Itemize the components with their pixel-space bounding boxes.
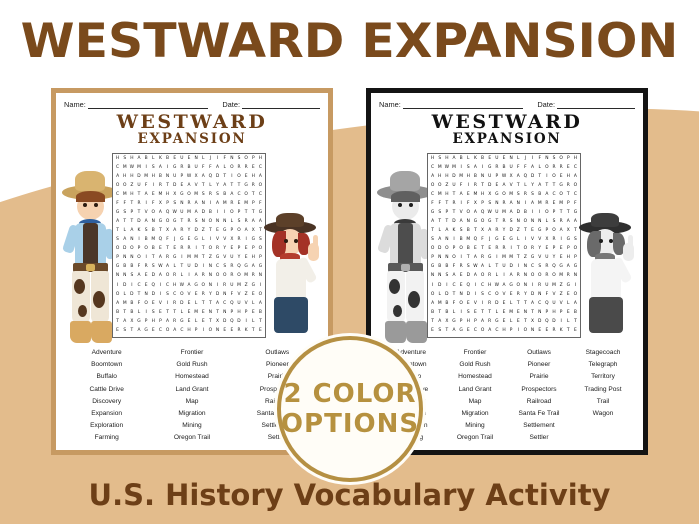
grid-cell[interactable]: F	[543, 290, 550, 299]
grid-cell[interactable]: C	[493, 326, 500, 335]
grid-cell[interactable]: A	[200, 173, 207, 182]
grid-cell[interactable]: B	[150, 227, 157, 236]
grid-cell[interactable]: A	[472, 272, 479, 281]
grid-cell[interactable]: E	[235, 200, 242, 209]
grid-cell[interactable]: W	[472, 263, 479, 272]
grid-cell[interactable]: N	[508, 155, 515, 164]
grid-cell[interactable]: N	[479, 173, 486, 182]
grid-cell[interactable]: C	[235, 191, 242, 200]
grid-cell[interactable]: T	[522, 299, 529, 308]
grid-cell[interactable]: L	[178, 308, 185, 317]
grid-cell[interactable]: O	[550, 272, 557, 281]
grid-cell[interactable]: A	[436, 317, 443, 326]
grid-cell[interactable]: N	[207, 272, 214, 281]
grid-cell[interactable]: D	[214, 173, 221, 182]
grid-cell[interactable]: T	[150, 254, 157, 263]
grid-cell[interactable]: L	[436, 290, 443, 299]
grid-cell[interactable]: N	[543, 155, 550, 164]
grid-cell[interactable]: G	[143, 326, 150, 335]
grid-cell[interactable]: N	[429, 272, 436, 281]
grid-cell[interactable]: S	[550, 155, 557, 164]
grid-cell[interactable]: S	[429, 236, 436, 245]
grid-cell[interactable]: O	[429, 245, 436, 254]
grid-cell[interactable]: C	[257, 191, 264, 200]
grid-cell[interactable]: R	[558, 218, 565, 227]
grid-cell[interactable]: I	[458, 254, 465, 263]
grid-cell[interactable]: I	[193, 245, 200, 254]
grid-cell[interactable]: A	[472, 164, 479, 173]
grid-cell[interactable]: N	[143, 290, 150, 299]
grid-cell[interactable]: S	[443, 272, 450, 281]
grid-cell[interactable]: H	[465, 173, 472, 182]
grid-cell[interactable]: T	[128, 326, 135, 335]
grid-cell[interactable]: E	[458, 281, 465, 290]
grid-cell[interactable]: M	[536, 200, 543, 209]
grid-cell[interactable]: B	[472, 173, 479, 182]
grid-cell[interactable]: O	[558, 191, 565, 200]
grid-cell[interactable]: P	[243, 308, 250, 317]
grid-cell[interactable]: G	[178, 236, 185, 245]
grid-cell[interactable]: A	[565, 218, 572, 227]
grid-cell[interactable]: W	[128, 164, 135, 173]
grid-cell[interactable]: R	[543, 200, 550, 209]
grid-cell[interactable]: L	[150, 155, 157, 164]
grid-cell[interactable]: E	[143, 281, 150, 290]
grid-cell[interactable]: C	[157, 326, 164, 335]
grid-cell[interactable]: P	[228, 308, 235, 317]
grid-cell[interactable]: A	[171, 326, 178, 335]
grid-cell[interactable]: N	[458, 290, 465, 299]
grid-cell[interactable]: T	[135, 209, 142, 218]
grid-cell[interactable]: R	[565, 272, 572, 281]
grid-cell[interactable]: E	[157, 245, 164, 254]
grid-cell[interactable]: E	[543, 245, 550, 254]
grid-cell[interactable]: I	[214, 155, 221, 164]
grid-cell[interactable]: I	[164, 299, 171, 308]
grid-cell[interactable]: M	[157, 191, 164, 200]
grid-cell[interactable]: P	[193, 326, 200, 335]
grid-cell[interactable]: G	[193, 236, 200, 245]
grid-cell[interactable]: O	[207, 245, 214, 254]
grid-cell[interactable]: S	[436, 326, 443, 335]
grid-cell[interactable]: O	[207, 326, 214, 335]
grid-cell[interactable]: H	[128, 155, 135, 164]
grid-cell[interactable]: O	[436, 182, 443, 191]
grid-cell[interactable]: N	[515, 218, 522, 227]
grid-cell[interactable]: I	[529, 155, 536, 164]
grid-cell[interactable]: F	[465, 200, 472, 209]
grid-cell[interactable]: O	[164, 326, 171, 335]
grid-cell[interactable]: F	[135, 299, 142, 308]
grid-cell[interactable]: W	[178, 281, 185, 290]
grid-cell[interactable]: E	[543, 326, 550, 335]
grid-cell[interactable]: M	[508, 254, 515, 263]
grid-cell[interactable]: D	[529, 173, 536, 182]
grid-cell[interactable]: C	[171, 290, 178, 299]
grid-cell[interactable]: M	[458, 173, 465, 182]
grid-cell[interactable]: E	[558, 254, 565, 263]
grid-cell[interactable]: F	[150, 200, 157, 209]
grid-cell[interactable]: I	[443, 281, 450, 290]
grid-cell[interactable]: B	[429, 308, 436, 317]
grid-cell[interactable]: R	[543, 272, 550, 281]
grid-cell[interactable]: S	[515, 191, 522, 200]
grid-cell[interactable]: F	[515, 164, 522, 173]
grid-cell[interactable]: T	[164, 182, 171, 191]
grid-cell[interactable]: O	[536, 272, 543, 281]
grid-cell[interactable]: H	[550, 308, 557, 317]
grid-cell[interactable]: R	[164, 254, 171, 263]
grid-cell[interactable]: L	[486, 263, 493, 272]
grid-cell[interactable]: C	[164, 281, 171, 290]
grid-cell[interactable]: T	[479, 308, 486, 317]
grid-cell[interactable]: L	[200, 236, 207, 245]
grid-cell[interactable]: B	[465, 245, 472, 254]
grid-cell[interactable]: A	[458, 218, 465, 227]
grid-cell[interactable]: A	[114, 173, 121, 182]
grid-cell[interactable]: O	[143, 299, 150, 308]
grid-cell[interactable]: R	[143, 263, 150, 272]
grid-cell[interactable]: T	[228, 182, 235, 191]
grid-cell[interactable]: L	[121, 290, 128, 299]
grid-cell[interactable]: G	[558, 182, 565, 191]
grid-cell[interactable]: R	[135, 200, 142, 209]
grid-cell[interactable]: N	[150, 218, 157, 227]
grid-cell[interactable]: A	[114, 218, 121, 227]
grid-cell[interactable]: M	[235, 281, 242, 290]
grid-cell[interactable]: R	[515, 290, 522, 299]
grid-cell[interactable]: H	[171, 281, 178, 290]
grid-cell[interactable]: N	[522, 272, 529, 281]
grid-cell[interactable]: V	[550, 290, 557, 299]
grid-cell[interactable]: R	[171, 299, 178, 308]
grid-cell[interactable]: O	[572, 245, 579, 254]
grid-cell[interactable]: U	[185, 263, 192, 272]
grid-cell[interactable]: U	[550, 299, 557, 308]
grid-cell[interactable]: O	[143, 245, 150, 254]
grid-cell[interactable]: T	[250, 326, 257, 335]
grid-cell[interactable]: O	[121, 182, 128, 191]
grid-cell[interactable]: T	[135, 191, 142, 200]
grid-cell[interactable]: T	[479, 245, 486, 254]
grid-cell[interactable]: X	[164, 227, 171, 236]
grid-cell[interactable]: O	[164, 218, 171, 227]
grid-cell[interactable]: N	[436, 254, 443, 263]
grid-cell[interactable]: C	[479, 281, 486, 290]
grid-cell[interactable]: D	[178, 299, 185, 308]
grid-cell[interactable]: R	[178, 245, 185, 254]
grid-cell[interactable]: G	[572, 209, 579, 218]
grid-cell[interactable]: N	[443, 254, 450, 263]
grid-cell[interactable]: O	[128, 245, 135, 254]
grid-cell[interactable]: I	[178, 254, 185, 263]
grid-cell[interactable]: R	[228, 200, 235, 209]
grid-cell[interactable]: P	[135, 245, 142, 254]
grid-cell[interactable]: S	[458, 227, 465, 236]
grid-cell[interactable]: T	[429, 227, 436, 236]
grid-cell[interactable]: F	[522, 164, 529, 173]
grid-cell[interactable]: I	[185, 272, 192, 281]
grid-cell[interactable]: E	[185, 299, 192, 308]
grid-cell[interactable]: I	[472, 281, 479, 290]
grid-cell[interactable]: S	[436, 209, 443, 218]
grid-cell[interactable]: E	[458, 272, 465, 281]
grid-cell[interactable]: F	[257, 200, 264, 209]
grid-cell[interactable]: A	[543, 191, 550, 200]
grid-cell[interactable]: X	[479, 227, 486, 236]
grid-cell[interactable]: R	[450, 200, 457, 209]
grid-cell[interactable]: Q	[157, 236, 164, 245]
grid-cell[interactable]: G	[250, 281, 257, 290]
grid-cell[interactable]: L	[493, 272, 500, 281]
grid-cell[interactable]: T	[515, 299, 522, 308]
grid-cell[interactable]: G	[529, 254, 536, 263]
grid-cell[interactable]: S	[164, 290, 171, 299]
grid-cell[interactable]: A	[472, 254, 479, 263]
grid-cell[interactable]: V	[157, 299, 164, 308]
grid-cell[interactable]: A	[193, 200, 200, 209]
grid-cell[interactable]: T	[157, 227, 164, 236]
grid-cell[interactable]: T	[529, 308, 536, 317]
grid-cell[interactable]: I	[257, 281, 264, 290]
grid-cell[interactable]: T	[443, 218, 450, 227]
grid-cell[interactable]: Q	[235, 263, 242, 272]
grid-cell[interactable]: Q	[522, 173, 529, 182]
grid-cell[interactable]: M	[465, 236, 472, 245]
grid-cell[interactable]: H	[429, 155, 436, 164]
grid-cell[interactable]: E	[472, 308, 479, 317]
grid-cell[interactable]: C	[529, 263, 536, 272]
grid-cell[interactable]: C	[536, 299, 543, 308]
grid-cell[interactable]: G	[429, 263, 436, 272]
grid-cell[interactable]: V	[221, 236, 228, 245]
grid-cell[interactable]: A	[458, 191, 465, 200]
grid-cell[interactable]: B	[185, 164, 192, 173]
grid-cell[interactable]: A	[257, 173, 264, 182]
grid-cell[interactable]: C	[114, 191, 121, 200]
grid-cell[interactable]: U	[543, 281, 550, 290]
grid-cell[interactable]: I	[472, 290, 479, 299]
grid-cell[interactable]: Y	[500, 227, 507, 236]
grid-cell[interactable]: E	[193, 290, 200, 299]
grid-cell[interactable]: H	[500, 326, 507, 335]
grid-cell[interactable]: A	[228, 191, 235, 200]
grid-cell[interactable]: F	[436, 200, 443, 209]
grid-cell[interactable]: U	[486, 173, 493, 182]
grid-cell[interactable]: M	[436, 191, 443, 200]
grid-cell[interactable]: R	[486, 299, 493, 308]
grid-cell[interactable]: C	[214, 263, 221, 272]
grid-cell[interactable]: Q	[543, 317, 550, 326]
grid-cell[interactable]: I	[558, 236, 565, 245]
grid-cell[interactable]: A	[450, 326, 457, 335]
grid-cell[interactable]: A	[450, 155, 457, 164]
grid-cell[interactable]: H	[121, 173, 128, 182]
grid-cell[interactable]: S	[150, 164, 157, 173]
grid-cell[interactable]: P	[128, 209, 135, 218]
grid-cell[interactable]: X	[529, 317, 536, 326]
grid-cell[interactable]: R	[185, 200, 192, 209]
grid-cell[interactable]: M	[185, 209, 192, 218]
grid-cell[interactable]: E	[243, 173, 250, 182]
grid-cell[interactable]: O	[243, 155, 250, 164]
grid-cell[interactable]: P	[493, 173, 500, 182]
grid-cell[interactable]: S	[550, 218, 557, 227]
grid-cell[interactable]: T	[493, 263, 500, 272]
grid-cell[interactable]: C	[178, 326, 185, 335]
grid-cell[interactable]: O	[200, 281, 207, 290]
grid-cell[interactable]: O	[257, 182, 264, 191]
grid-cell[interactable]: X	[171, 191, 178, 200]
grid-cell[interactable]: T	[565, 191, 572, 200]
grid-cell[interactable]: O	[228, 164, 235, 173]
grid-cell[interactable]: N	[529, 326, 536, 335]
grid-cell[interactable]: K	[558, 326, 565, 335]
grid-cell[interactable]: E	[200, 308, 207, 317]
grid-cell[interactable]: G	[508, 236, 515, 245]
grid-cell[interactable]: F	[429, 200, 436, 209]
grid-cell[interactable]: K	[157, 155, 164, 164]
grid-cell[interactable]: I	[243, 236, 250, 245]
grid-cell[interactable]: A	[429, 218, 436, 227]
grid-cell[interactable]: I	[221, 209, 228, 218]
grid-cell[interactable]: P	[250, 155, 257, 164]
grid-cell[interactable]: U	[508, 164, 515, 173]
grid-cell[interactable]: G	[508, 281, 515, 290]
grid-cell[interactable]: T	[250, 209, 257, 218]
grid-cell[interactable]: Y	[235, 254, 242, 263]
grid-cell[interactable]: I	[143, 164, 150, 173]
grid-cell[interactable]: S	[200, 191, 207, 200]
grid-cell[interactable]: N	[214, 218, 221, 227]
grid-cell[interactable]: C	[450, 281, 457, 290]
grid-cell[interactable]: P	[472, 317, 479, 326]
grid-cell[interactable]: Q	[550, 263, 557, 272]
grid-cell[interactable]: I	[143, 254, 150, 263]
grid-cell[interactable]: Y	[522, 290, 529, 299]
grid-cell[interactable]: M	[185, 254, 192, 263]
grid-cell[interactable]: G	[572, 263, 579, 272]
grid-cell[interactable]: A	[135, 155, 142, 164]
grid-cell[interactable]: I	[207, 200, 214, 209]
grid-cell[interactable]: G	[135, 317, 142, 326]
grid-cell[interactable]: X	[157, 200, 164, 209]
grid-cell[interactable]: O	[558, 155, 565, 164]
grid-cell[interactable]: X	[214, 317, 221, 326]
grid-cell[interactable]: H	[250, 173, 257, 182]
grid-cell[interactable]: E	[250, 308, 257, 317]
grid-cell[interactable]: H	[479, 191, 486, 200]
grid-cell[interactable]: G	[486, 254, 493, 263]
grid-cell[interactable]: U	[235, 299, 242, 308]
grid-cell[interactable]: P	[458, 317, 465, 326]
grid-cell[interactable]: G	[114, 209, 121, 218]
grid-cell[interactable]: D	[128, 290, 135, 299]
grid-cell[interactable]: H	[235, 308, 242, 317]
grid-cell[interactable]: A	[257, 218, 264, 227]
grid-cell[interactable]: G	[486, 218, 493, 227]
grid-cell[interactable]: V	[529, 236, 536, 245]
grid-cell[interactable]: I	[543, 173, 550, 182]
grid-cell[interactable]: D	[443, 290, 450, 299]
grid-cell[interactable]: T	[550, 182, 557, 191]
grid-cell[interactable]: T	[200, 245, 207, 254]
grid-cell[interactable]: L	[171, 263, 178, 272]
grid-cell[interactable]: M	[193, 191, 200, 200]
grid-cell[interactable]: Q	[207, 173, 214, 182]
grid-cell[interactable]: F	[572, 200, 579, 209]
grid-cell[interactable]: S	[235, 218, 242, 227]
grid-cell[interactable]: O	[257, 290, 264, 299]
name-input-line[interactable]	[88, 101, 209, 109]
grid-cell[interactable]: R	[185, 218, 192, 227]
grid-cell[interactable]: D	[450, 218, 457, 227]
grid-cell[interactable]: F	[450, 299, 457, 308]
grid-cell[interactable]: O	[572, 290, 579, 299]
grid-cell[interactable]: Q	[472, 236, 479, 245]
grid-cell[interactable]: O	[443, 245, 450, 254]
grid-cell[interactable]: B	[465, 227, 472, 236]
grid-cell[interactable]: C	[114, 164, 121, 173]
grid-cell[interactable]: E	[171, 245, 178, 254]
grid-cell[interactable]: E	[500, 155, 507, 164]
grid-cell[interactable]: A	[572, 299, 579, 308]
grid-cell[interactable]: B	[458, 236, 465, 245]
grid-cell[interactable]: V	[143, 209, 150, 218]
grid-cell[interactable]: P	[572, 254, 579, 263]
grid-cell[interactable]: S	[114, 236, 121, 245]
grid-cell[interactable]: E	[114, 326, 121, 335]
grid-cell[interactable]: Z	[443, 182, 450, 191]
grid-cell[interactable]: L	[250, 299, 257, 308]
grid-cell[interactable]: O	[214, 272, 221, 281]
grid-cell[interactable]: P	[235, 209, 242, 218]
grid-cell[interactable]: D	[214, 290, 221, 299]
grid-cell[interactable]: M	[243, 200, 250, 209]
grid-cell[interactable]: G	[243, 263, 250, 272]
grid-cell[interactable]: I	[500, 272, 507, 281]
grid-cell[interactable]: H	[486, 281, 493, 290]
grid-cell[interactable]: L	[135, 308, 142, 317]
grid-cell[interactable]: H	[150, 317, 157, 326]
grid-cell[interactable]: N	[221, 308, 228, 317]
grid-cell[interactable]: L	[250, 317, 257, 326]
grid-cell[interactable]: W	[185, 173, 192, 182]
grid-cell[interactable]: M	[508, 308, 515, 317]
grid-cell[interactable]: A	[185, 182, 192, 191]
grid-cell[interactable]: E	[500, 236, 507, 245]
grid-cell[interactable]: O	[458, 299, 465, 308]
grid-cell[interactable]: R	[493, 227, 500, 236]
grid-cell[interactable]: R	[235, 236, 242, 245]
grid-cell[interactable]: L	[493, 308, 500, 317]
grid-cell[interactable]: X	[193, 173, 200, 182]
grid-cell[interactable]: E	[565, 290, 572, 299]
grid-cell[interactable]: M	[221, 200, 228, 209]
grid-cell[interactable]: G	[114, 263, 121, 272]
grid-cell[interactable]: O	[221, 272, 228, 281]
grid-cell[interactable]: X	[128, 317, 135, 326]
grid-cell[interactable]: G	[193, 281, 200, 290]
grid-cell[interactable]: S	[221, 263, 228, 272]
grid-cell[interactable]: T	[257, 317, 264, 326]
grid-cell[interactable]: N	[214, 326, 221, 335]
grid-cell[interactable]: P	[550, 209, 557, 218]
grid-cell[interactable]: N	[257, 272, 264, 281]
grid-cell[interactable]: I	[522, 200, 529, 209]
grid-cell[interactable]: A	[257, 299, 264, 308]
grid-cell[interactable]: D	[121, 281, 128, 290]
